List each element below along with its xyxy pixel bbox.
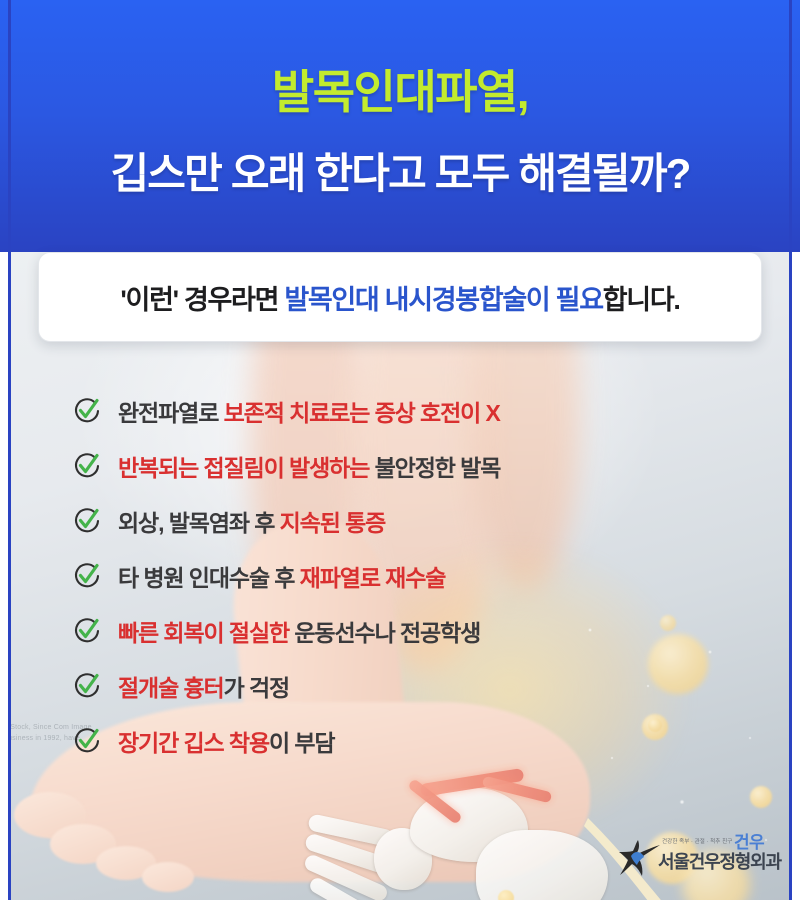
label-plain-after: 이 부담: [269, 730, 334, 756]
symptom-checklist: 완전파열로 보존적 치료로는 증상 호전이 X 반복되는 접질림이 발생하는 불…: [72, 383, 732, 768]
star-arrow-logo-icon: [618, 838, 662, 878]
list-item-label: 반복되는 접질림이 발생하는 불안정한 발목: [118, 449, 500, 483]
label-plain-after: 불안정한 발목: [369, 455, 500, 481]
label-plain-before: 외상, 발목염좌 후: [118, 510, 280, 536]
label-emphasis: 보존적 치료로는 증상 호전이 X: [224, 400, 500, 426]
left-border-line: [8, 0, 11, 900]
list-item: 외상, 발목염좌 후 지속된 통증: [72, 493, 732, 548]
check-circle-icon: [72, 616, 102, 646]
left-white-margin: [0, 252, 8, 900]
clinic-logo: 건강한 족부 · 관절 · 척추 친구 건우 서울건우정형외과: [618, 832, 782, 884]
list-item: 절개술 흉터가 걱정: [72, 658, 732, 713]
logo-clinic-name: 서울건우정형외과: [658, 848, 781, 874]
label-emphasis: 반복되는 접질림이 발생하는: [118, 455, 369, 481]
infographic-poster: e Stock, Since Com Image business in 199…: [0, 0, 800, 900]
header-banner: 발목인대파열, 깁스만 오래 한다고 모두 해결될까?: [0, 0, 800, 252]
list-item: 빠른 회복이 절실한 운동선수나 전공학생: [72, 603, 732, 658]
bokeh-orb: [750, 786, 772, 808]
check-circle-icon: [72, 506, 102, 536]
label-plain-before: 완전파열로: [118, 400, 224, 426]
right-border-line: [789, 0, 792, 900]
subtitle-text: '이런' 경우라면 발목인대 내시경봉합술이 필요합니다.: [120, 278, 679, 317]
subtitle-prefix: '이런' 경우라면: [120, 285, 284, 315]
label-emphasis: 지속된 통증: [280, 510, 386, 536]
logo-tagline: 건강한 족부 · 관절 · 척추 친구: [662, 837, 732, 845]
label-plain-after: 가 걱정: [224, 675, 289, 701]
list-item-label: 절개술 흉터가 걱정: [118, 669, 289, 703]
right-white-margin: [792, 252, 800, 900]
bokeh-orb: [498, 890, 514, 900]
label-emphasis: 빠른 회복이 절실한: [118, 620, 289, 646]
label-plain-before: 타 병원 인대수술 후: [118, 565, 300, 591]
list-item-label: 장기간 깁스 착용이 부담: [118, 724, 335, 758]
subtitle-highlight: 발목인대 내시경봉합술이 필요: [284, 285, 602, 315]
label-emphasis: 절개술 흉터: [118, 675, 224, 701]
list-item: 타 병원 인대수술 후 재파열로 재수술: [72, 548, 732, 603]
check-circle-icon: [72, 726, 102, 756]
label-emphasis: 장기간 깁스 착용: [118, 730, 269, 756]
subtitle-suffix: 합니다.: [603, 285, 680, 315]
list-item-label: 타 병원 인대수술 후 재파열로 재수술: [118, 559, 445, 593]
list-item-label: 외상, 발목염좌 후 지속된 통증: [118, 504, 385, 538]
list-item-label: 빠른 회복이 절실한 운동선수나 전공학생: [118, 614, 480, 648]
page-title-line2: 깁스만 오래 한다고 모두 해결될까?: [0, 140, 800, 201]
list-item: 장기간 깁스 착용이 부담: [72, 713, 732, 768]
label-emphasis: 재파열로 재수술: [300, 565, 446, 591]
check-circle-icon: [72, 396, 102, 426]
list-item: 완전파열로 보존적 치료로는 증상 호전이 X: [72, 383, 732, 438]
check-circle-icon: [72, 561, 102, 591]
list-item-label: 완전파열로 보존적 치료로는 증상 호전이 X: [118, 394, 500, 428]
list-item: 반복되는 접질림이 발생하는 불안정한 발목: [72, 438, 732, 493]
subtitle-card: '이런' 경우라면 발목인대 내시경봉합술이 필요합니다.: [38, 252, 762, 342]
toe-shape: [142, 862, 194, 892]
check-circle-icon: [72, 671, 102, 701]
page-title-line1: 발목인대파열,: [0, 56, 800, 122]
check-circle-icon: [72, 451, 102, 481]
label-plain-after: 운동선수나 전공학생: [289, 620, 480, 646]
